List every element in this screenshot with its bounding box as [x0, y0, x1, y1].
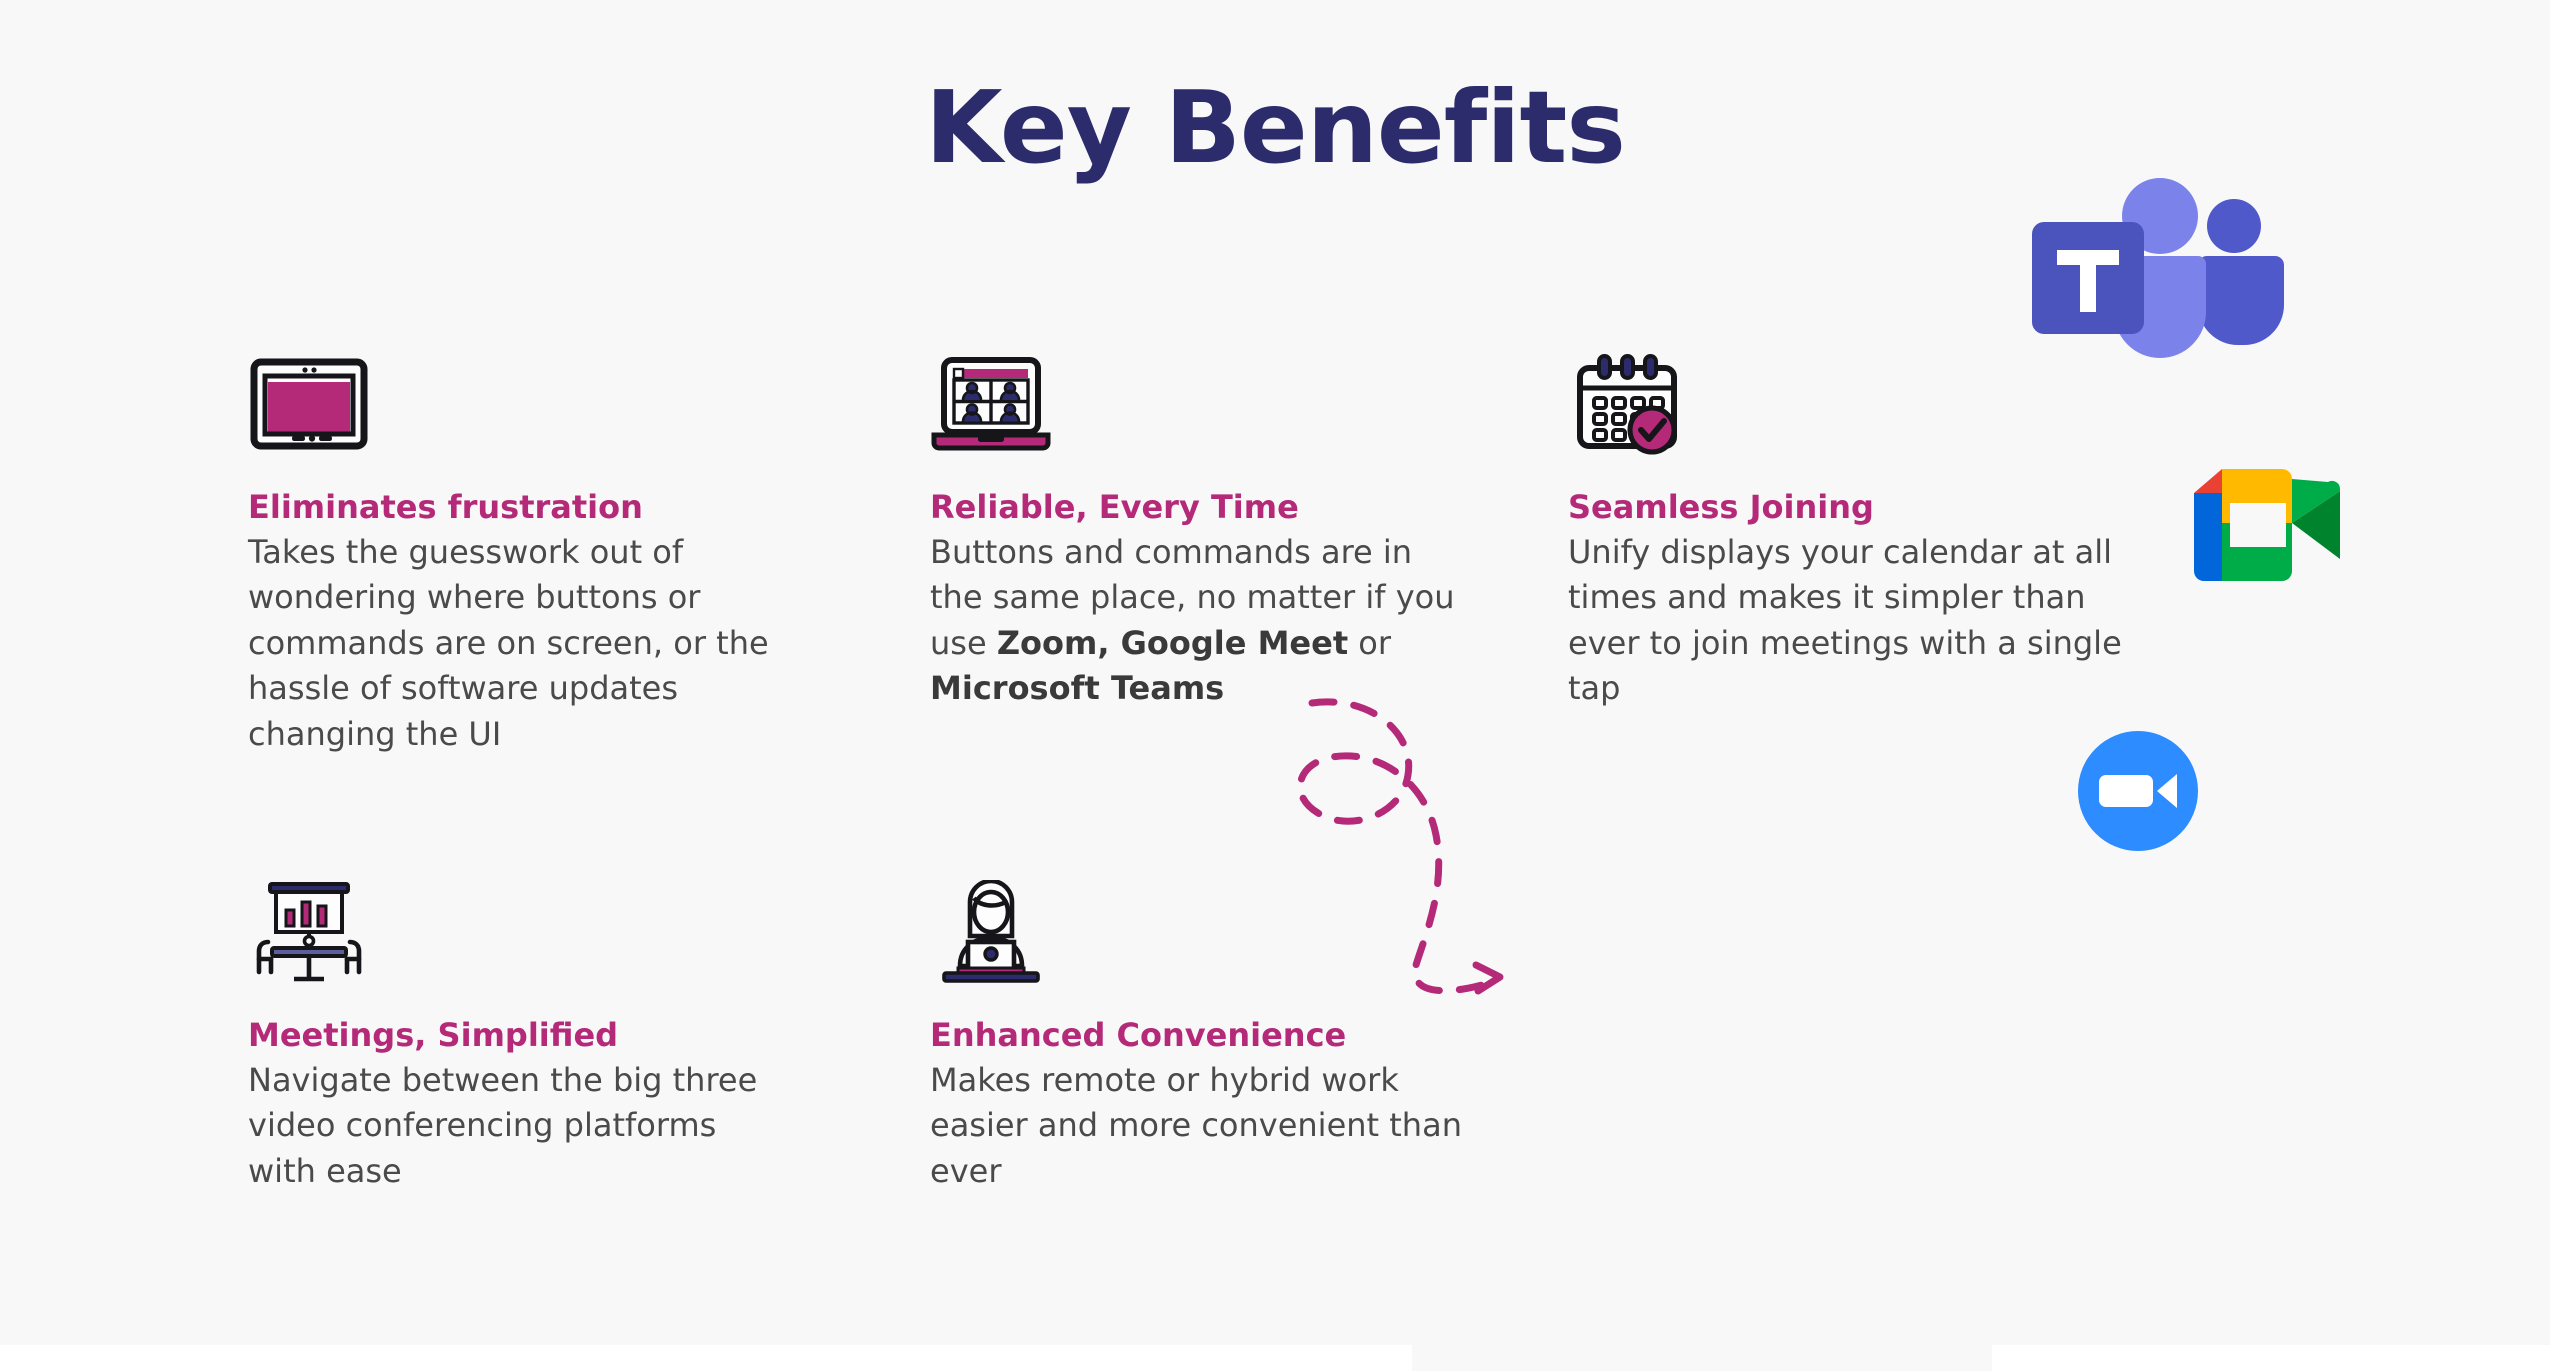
benefit-heading: Eliminates frustration — [248, 489, 788, 526]
dashed-loop-arrow — [1240, 665, 1550, 1025]
google-meet-logo — [2172, 465, 2344, 585]
benefit-card-reliable-every-time: Reliable, Every Time Buttons and command… — [930, 352, 1470, 712]
presentation-meeting-room-icon — [248, 880, 370, 984]
benefit-card-eliminates-frustration: Eliminates frustration Takes the guesswo… — [248, 352, 788, 757]
page-title: Key Benefits — [0, 78, 2550, 178]
benefit-body: Takes the guesswork out of wondering whe… — [248, 530, 788, 757]
microsoft-teams-logo — [2010, 168, 2290, 368]
slide-canvas: Key Benefits Eliminates frustration Take… — [0, 0, 2550, 1371]
bottom-strip — [0, 1345, 2550, 1371]
zoom-logo — [2072, 725, 2204, 857]
benefit-heading: Seamless Joining — [1568, 489, 2128, 526]
benefit-body: Unify displays your calendar at all time… — [1568, 530, 2128, 712]
benefit-heading: Reliable, Every Time — [930, 489, 1470, 526]
benefit-body: Navigate between the big three video con… — [248, 1058, 788, 1194]
bottom-strip-inner — [1412, 1345, 1992, 1371]
laptop-video-grid-icon — [930, 352, 1052, 456]
monitor-screen-icon — [248, 352, 370, 456]
benefit-card-meetings-simplified: Meetings, Simplified Navigate between th… — [248, 880, 788, 1194]
calendar-check-icon — [1568, 352, 1690, 456]
benefit-card-seamless-joining: Seamless Joining Unify displays your cal… — [1568, 352, 2128, 712]
benefit-body: Makes remote or hybrid work easier and m… — [930, 1058, 1470, 1194]
benefit-heading: Meetings, Simplified — [248, 1017, 788, 1054]
person-at-laptop-icon — [930, 880, 1052, 984]
